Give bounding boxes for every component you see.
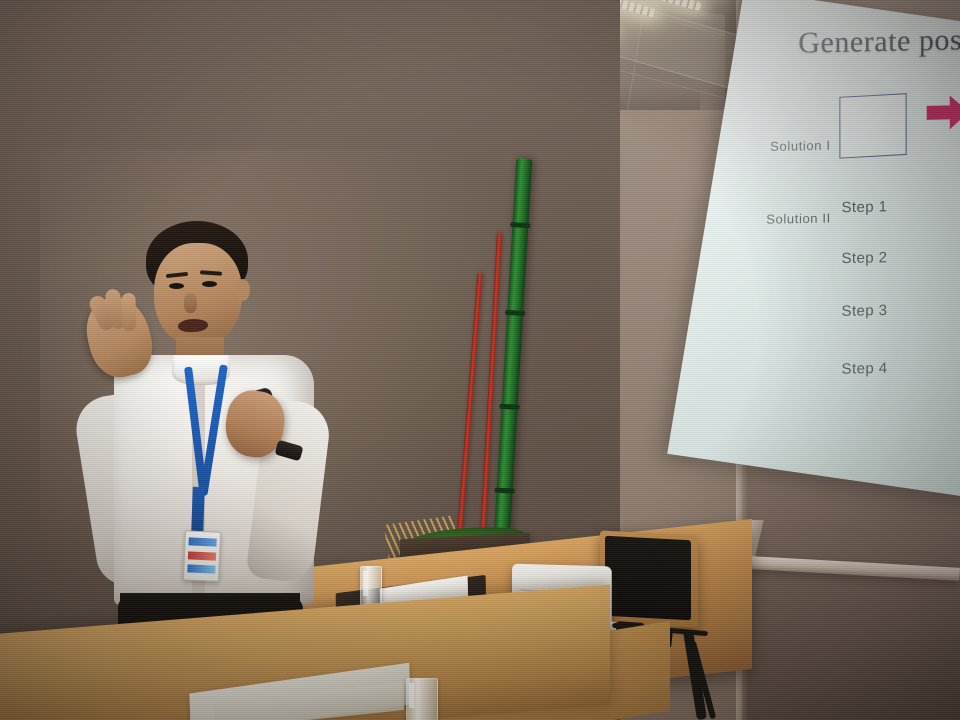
badge-band	[188, 551, 216, 560]
badge-band	[188, 537, 216, 546]
presenter-eye	[169, 283, 184, 289]
conference-room-photo: Generate pos Solution I Solution II Step…	[0, 0, 960, 720]
bamboo-node	[505, 310, 525, 316]
presenter-eye	[202, 281, 217, 287]
chair-backrest	[605, 536, 691, 621]
bamboo-node	[510, 222, 530, 228]
badge-band	[187, 564, 215, 573]
bamboo-node	[499, 404, 519, 410]
presenter-finger	[121, 293, 136, 331]
lanyard-strap	[191, 487, 205, 533]
conference-name-badge	[183, 530, 221, 582]
presenter-ear	[236, 279, 250, 301]
presenter-nose	[184, 293, 197, 313]
bamboo-node	[494, 488, 514, 494]
drinking-glass	[406, 678, 438, 720]
